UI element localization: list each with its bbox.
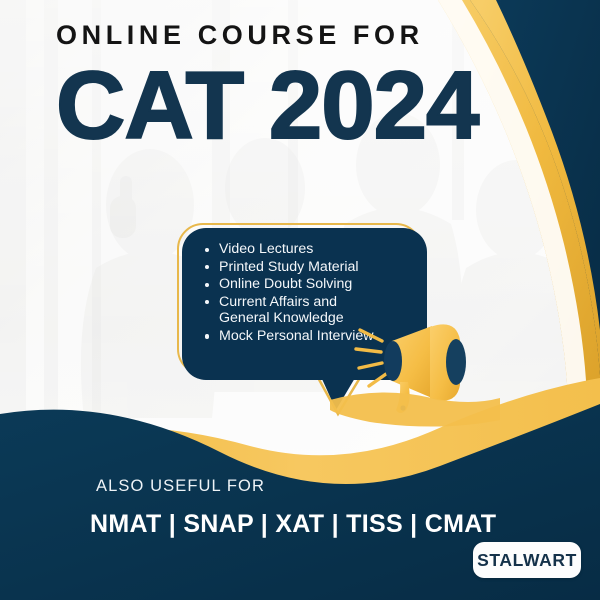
also-useful-label: ALSO USEFUL FOR xyxy=(96,477,265,496)
brand-badge[interactable]: STALWART xyxy=(473,542,581,578)
promotional-poster: ONLINE COURSE FOR CAT 2024 xyxy=(0,0,600,600)
brand-name: STALWART xyxy=(477,550,577,571)
exam-list: NMAT | SNAP | XAT | TISS | CMAT xyxy=(90,510,496,539)
